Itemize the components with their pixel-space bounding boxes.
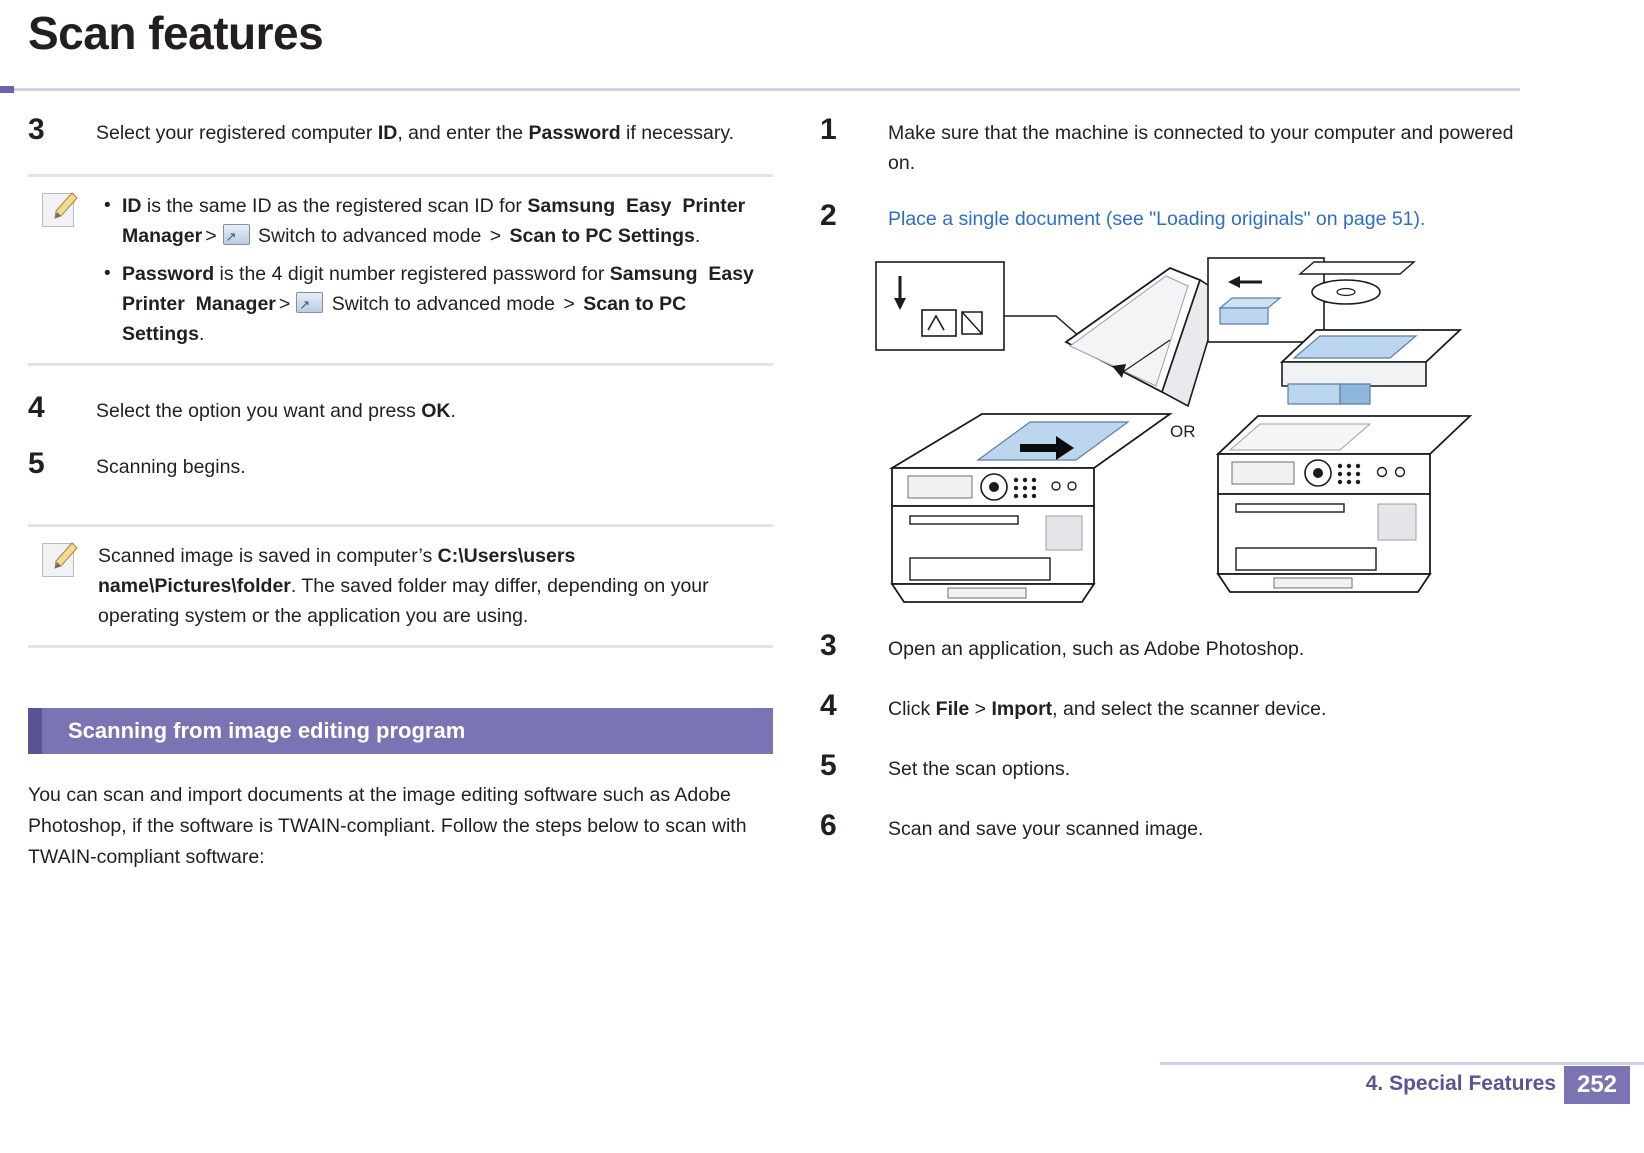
note-content: • ID is the same ID as the registered sc… xyxy=(98,191,773,349)
step-text: Scan and save your scanned image. xyxy=(888,814,1520,844)
step-number: 3 xyxy=(820,629,860,663)
note-content: Scanned image is saved in computer’s C:\… xyxy=(98,541,773,631)
bullet-glyph: • xyxy=(104,191,111,221)
step-5-right: 5 Set the scan options. xyxy=(820,754,1520,788)
step-text-link[interactable]: Place a single document (see "Loading or… xyxy=(888,204,1520,234)
step-3-left: 3 Select your registered computer ID, an… xyxy=(28,118,773,152)
note-box-saved-location: Scanned image is saved in computer’s C:\… xyxy=(28,524,773,648)
scanner-illustration: OR xyxy=(870,254,1510,614)
step-3-right: 3 Open an application, such as Adobe Pho… xyxy=(820,634,1520,668)
document-page: Scan features 3 Select your registered c… xyxy=(0,0,1644,1153)
section-paragraph: You can scan and import documents at the… xyxy=(28,780,768,873)
step-number: 6 xyxy=(820,809,860,843)
step-text: Open an application, such as Adobe Photo… xyxy=(888,634,1520,664)
bullet-glyph: • xyxy=(104,259,111,289)
step-4-left: 4 Select the option you want and press O… xyxy=(28,396,773,430)
footer-page-number: 252 xyxy=(1564,1066,1630,1104)
step-number: 4 xyxy=(28,391,68,425)
step-text: Set the scan options. xyxy=(888,754,1520,784)
step-text: Select your registered computer ID, and … xyxy=(96,118,773,148)
page-title: Scan features xyxy=(28,6,323,60)
section-heading-label: Scanning from image editing program xyxy=(68,718,465,744)
section-heading-bar: Scanning from image editing program xyxy=(28,708,773,754)
step-1-right: 1 Make sure that the machine is connecte… xyxy=(820,118,1520,178)
note-bullet-password: • Password is the 4 digit number registe… xyxy=(98,259,773,349)
right-column: 1 Make sure that the machine is connecte… xyxy=(820,118,1520,858)
switch-to-advanced-mode-icon xyxy=(223,224,250,245)
footer-divider xyxy=(1160,1062,1644,1065)
step-text: Click File > Import, and select the scan… xyxy=(888,694,1520,724)
step-number: 2 xyxy=(820,199,860,233)
step-number: 3 xyxy=(28,113,68,147)
or-label: OR xyxy=(1170,422,1196,442)
section-heading-accent xyxy=(28,708,42,754)
step-4-right: 4 Click File > Import, and select the sc… xyxy=(820,694,1520,728)
step-number: 5 xyxy=(28,447,68,481)
step-text: Select the option you want and press OK. xyxy=(96,396,773,426)
pencil-note-icon xyxy=(42,193,78,227)
step-number: 1 xyxy=(820,113,860,147)
step-text: Scanning begins. xyxy=(96,452,773,482)
step-number: 4 xyxy=(820,689,860,723)
left-column: 3 Select your registered computer ID, an… xyxy=(28,118,773,873)
step-2-right: 2 Place a single document (see "Loading … xyxy=(820,204,1520,238)
step-text: Make sure that the machine is connected … xyxy=(888,118,1520,178)
note-box-id-password: • ID is the same ID as the registered sc… xyxy=(28,174,773,366)
step-6-right: 6 Scan and save your scanned image. xyxy=(820,814,1520,848)
step-number: 5 xyxy=(820,749,860,783)
step-5-left: 5 Scanning begins. xyxy=(28,452,773,486)
header-divider-accent xyxy=(0,86,14,93)
header-divider xyxy=(0,88,1520,91)
pencil-note-icon xyxy=(42,543,78,577)
switch-to-advanced-mode-icon xyxy=(296,292,323,313)
footer-chapter-label: 4. Special Features xyxy=(1366,1072,1556,1096)
note-bullet-id: • ID is the same ID as the registered sc… xyxy=(98,191,773,251)
